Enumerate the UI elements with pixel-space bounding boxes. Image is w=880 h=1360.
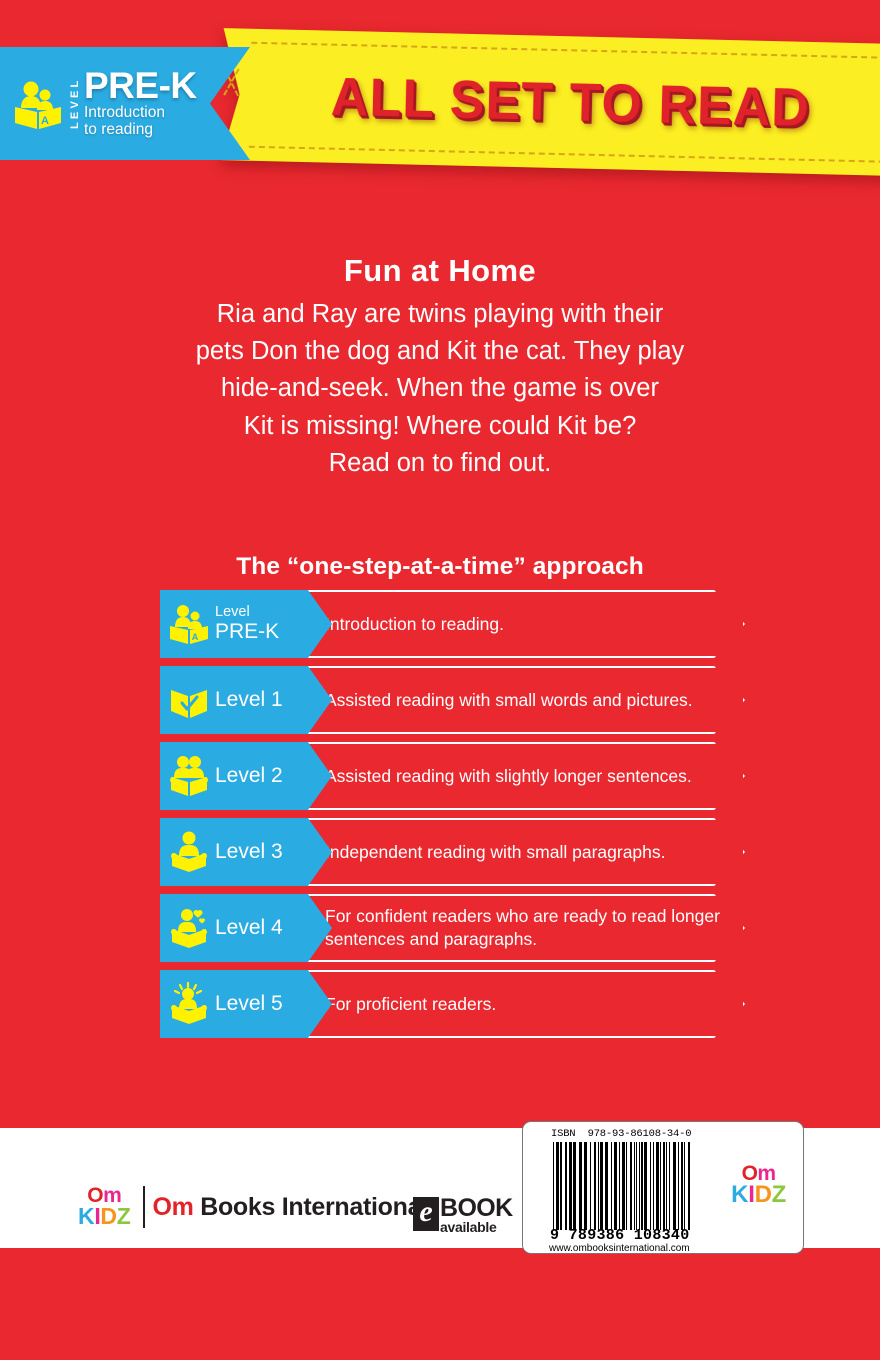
level-flag-text: LEVEL PRE-K Introduction to reading [70,68,197,139]
level-row: Assisted reading with small words and pi… [160,666,745,734]
level-badge-big-label: Level 1 [215,689,283,711]
level-badge-small-label: Level [215,605,279,620]
synopsis-line: Ria and Ray are twins playing with their [130,296,750,333]
level-row: For confident readers who are ready to r… [160,894,745,962]
barcode-bars [553,1142,693,1230]
level-description: For confident readers who are ready to r… [325,894,725,962]
om-kidz-logo-barcode: Om KIDZ [731,1164,786,1207]
ebook-e-icon: e [413,1197,439,1231]
barcode-digits: 9 789386 108340 [550,1227,700,1244]
level-subtitle-line1: Introduction [84,104,165,121]
publisher-name: Om Books International [152,1193,427,1222]
level-name: PRE-K [84,68,197,103]
isbn-line: ISBN 978-93-86108-34-0 [551,1128,691,1140]
level-badge-big-label: PRE-K [215,621,279,643]
publisher-name-rest: Books International [194,1193,428,1221]
level-description: Introduction to reading. [325,590,725,658]
kidz-letter-d: D [100,1203,116,1229]
reader-sunburst-book-icon [168,982,210,1026]
level-badge-label: Level 2 [215,765,283,787]
single-reader-book-icon [168,830,210,874]
barcode-card: ISBN 978-93-86108-34-0 9 789386 108340 w… [522,1121,804,1254]
level-badge-big-label: Level 3 [215,841,283,863]
level-badge-2: Level 2 [160,742,332,810]
publisher-name-om: Om [152,1193,193,1221]
story-title: Fun at Home [130,253,750,289]
book-back-cover: ALL SET TO READ A LEVEL PRE-K [0,0,880,1360]
level-badge-pre-k: A Level PRE-K [160,590,332,658]
level-badge-label: Level 1 [215,689,283,711]
isbn-number: 978-93-86108-34-0 [588,1128,692,1140]
ebook-available-text: available [440,1220,513,1234]
synopsis-line: Kit is missing! Where could Kit be? [130,408,750,445]
level-row: Assisted reading with slightly longer se… [160,742,745,810]
level-description: Assisted reading with slightly longer se… [325,742,725,810]
header-banners: ALL SET TO READ A LEVEL PRE-K [0,0,880,185]
svg-text:A: A [192,632,199,642]
ebook-available-logo: e BOOK available [413,1197,513,1234]
two-readers-book-icon: A [12,77,64,131]
level-chart: Introduction to reading. A Level P [160,590,745,1046]
level-badge-1: Level 1 [160,666,332,734]
level-description: For proficient readers. [325,970,725,1038]
ebook-book-text: BOOK [440,1197,513,1220]
level-row: Introduction to reading. A Level P [160,590,745,658]
level-badge-big-label: Level 2 [215,765,283,787]
story-description: Ria and Ray are twins playing with their… [130,296,750,482]
level-badge-big-label: Level 4 [215,917,283,939]
level-badge-4: Level 4 [160,894,332,962]
om-kidz-kidz-text: KIDZ [78,1206,130,1228]
reader-hearts-book-icon [168,906,210,950]
kidz-letter-k: K [78,1203,94,1229]
two-readers-book-a-icon: A [168,602,210,646]
level-row: For proficient readers. [160,970,745,1038]
synopsis-line: pets Don the dog and Kit the cat. They p… [130,333,750,370]
series-title: ALL SET TO READ [234,28,880,175]
synopsis-block: Fun at Home Ria and Ray are twins playin… [0,253,880,482]
level-badge-big-label: Level 5 [215,993,283,1015]
level-subtitle-line2: to reading [84,121,153,138]
logo-divider [143,1186,145,1228]
kidz-letter-k: K [731,1181,748,1208]
kidz-letter-d: D [755,1181,772,1208]
level-flag-badge: A LEVEL PRE-K Introduction to reading [0,47,250,160]
level-badge-label: Level PRE-K [215,605,279,642]
level-badge-5: Level 5 [160,970,332,1038]
om-kidz-kidz-text: KIDZ [731,1184,786,1207]
synopsis-line: Read on to find out. [130,445,750,482]
level-row: Independent reading with small paragraph… [160,818,745,886]
synopsis-line: hide-and-seek. When the game is over [130,370,750,407]
isbn-label: ISBN [551,1128,575,1140]
om-kidz-logo: Om KIDZ [78,1186,130,1228]
publisher-logo-group: Om KIDZ Om Books International [78,1186,428,1228]
kidz-letter-z: Z [117,1203,131,1229]
svg-text:A: A [41,115,49,127]
level-badge-label: Level 3 [215,841,283,863]
level-description: Assisted reading with small words and pi… [325,666,725,734]
book-checkmark-icon [168,678,210,722]
two-readers-book-icon [168,754,210,798]
level-description: Independent reading with small paragraph… [325,818,725,886]
approach-heading: The “one-step-at-a-time” approach [0,553,880,581]
kidz-letter-z: Z [772,1181,786,1208]
title-ribbon: ALL SET TO READ [221,28,880,176]
level-badge-label: Level 4 [215,917,283,939]
level-word-vertical: LEVEL [70,71,81,135]
publisher-url: www.ombooksinternational.com [549,1243,690,1254]
level-badge-3: Level 3 [160,818,332,886]
level-badge-label: Level 5 [215,993,283,1015]
